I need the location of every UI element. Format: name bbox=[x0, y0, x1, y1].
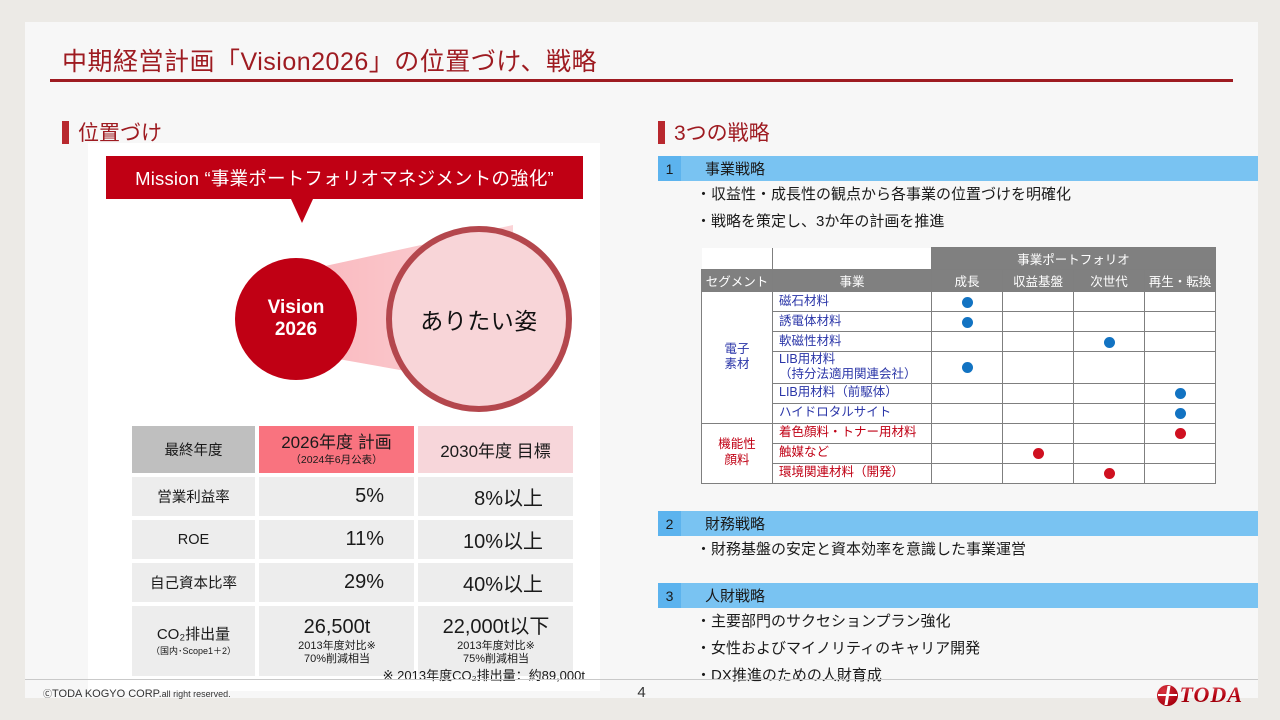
section-marker-icon bbox=[62, 121, 69, 144]
aspiration-circle: ありたい姿 bbox=[386, 226, 572, 412]
portfolio-col-growth: 成長 bbox=[932, 270, 1003, 292]
portfolio-mark-cell-empty bbox=[1074, 352, 1145, 384]
table-row: LIB用材料（持分法適用関連会社） bbox=[702, 352, 1216, 384]
vision-2026-circle: Vision 2026 bbox=[235, 258, 357, 380]
metric-label: 営業利益率 bbox=[132, 477, 255, 516]
portfolio-col-business: 事業 bbox=[773, 270, 932, 292]
metric-target-value: 10%以上 bbox=[418, 520, 573, 559]
metric-target-value: 40%以上 bbox=[418, 563, 573, 602]
portfolio-col-next: 次世代 bbox=[1074, 270, 1145, 292]
portfolio-business-cell: 磁石材料 bbox=[773, 292, 932, 312]
toda-logo-text: TODA bbox=[1180, 682, 1244, 708]
strategy-2-header: 2 財務戦略 bbox=[658, 511, 1258, 536]
portfolio-mark-cell-empty bbox=[1003, 423, 1074, 443]
table-row: 軟磁性材料 bbox=[702, 332, 1216, 352]
metrics-header-plan: 2026年度 計画 （2024年6月公表） bbox=[259, 426, 414, 473]
list-item: ・財務基盤の安定と資本効率を意識した事業運営 bbox=[658, 536, 1258, 563]
segment-line2: 素材 bbox=[724, 357, 749, 371]
portfolio-mark-cell-empty bbox=[932, 443, 1003, 463]
portfolio-group-header: 事業ポートフォリオ bbox=[932, 248, 1216, 270]
portfolio-mark-cell-filled bbox=[1074, 332, 1145, 352]
portfolio-mark-cell-empty bbox=[1145, 292, 1216, 312]
portfolio-mark-cell-filled bbox=[1003, 443, 1074, 463]
co2-footnote: ※ 2013年度CO₂排出量：約89,000t bbox=[88, 665, 585, 684]
portfolio-dot-icon bbox=[962, 297, 973, 308]
mission-banner: Mission “事業ポートフォリオマネジメントの強化” bbox=[106, 156, 583, 199]
portfolio-table: 事業ポートフォリオ セグメント 事業 成長 収益基盤 次世代 再生・転換 電子素… bbox=[701, 247, 1216, 484]
strategy-1-number: 1 bbox=[658, 156, 681, 181]
segment-line1: 電子 bbox=[724, 342, 749, 356]
portfolio-dot-icon bbox=[1104, 337, 1115, 348]
portfolio-mark-cell-empty bbox=[932, 423, 1003, 443]
list-item: ・戦略を策定し、3か年の計画を推進 bbox=[658, 208, 1258, 235]
page-title: 中期経営計画「Vision2026」の位置づけ、戦略 bbox=[62, 42, 597, 78]
strategy-3-bullets: ・主要部門のサクセションプラン強化 ・女性およびマイノリティのキャリア開発 ・D… bbox=[658, 608, 1258, 689]
segment-line1: 機能性 bbox=[718, 437, 756, 451]
metrics-header-plan-main: 2026年度 計画 bbox=[281, 433, 392, 452]
co2-target-amount: 22,000t以下 bbox=[419, 615, 573, 639]
portfolio-mark-cell-empty bbox=[932, 463, 1003, 483]
metric-label: ROE bbox=[132, 520, 255, 559]
metric-label: 自己資本比率 bbox=[132, 563, 255, 602]
title-underline bbox=[50, 79, 1233, 82]
strategy-1-title: 事業戦略 bbox=[681, 156, 1258, 181]
metrics-header-rowlabel: 最終年度 bbox=[132, 426, 255, 473]
list-item: ・女性およびマイノリティのキャリア開発 bbox=[658, 635, 1258, 662]
portfolio-mark-cell-empty bbox=[1003, 312, 1074, 332]
strategy-1-header: 1 事業戦略 bbox=[658, 156, 1258, 181]
section-heading-label: 3つの戦略 bbox=[674, 117, 770, 147]
portfolio-business-cell: 軟磁性材料 bbox=[773, 332, 932, 352]
aspiration-circle-label: ありたい姿 bbox=[420, 302, 538, 336]
portfolio-header-row: セグメント 事業 成長 収益基盤 次世代 再生・転換 bbox=[702, 270, 1216, 292]
toda-logo: TODA bbox=[1157, 682, 1244, 708]
portfolio-mark-cell-empty bbox=[1074, 312, 1145, 332]
positioning-card: Mission “事業ポートフォリオマネジメントの強化” Vision 2026… bbox=[88, 143, 600, 691]
portfolio-mark-cell-empty bbox=[1074, 292, 1145, 312]
co2-plan-note1: 2013年度対比※ bbox=[260, 640, 414, 653]
portfolio-mark-cell-empty bbox=[1145, 352, 1216, 384]
portfolio-mark-cell-empty bbox=[1074, 423, 1145, 443]
portfolio-mark-cell-empty bbox=[932, 383, 1003, 403]
toda-logo-mark-icon bbox=[1157, 685, 1178, 706]
metric-plan-value: 11% bbox=[259, 520, 414, 559]
metric-label-co2-sub: （国内･Scope1＋2） bbox=[133, 646, 254, 657]
portfolio-business-cell: 誘電体材料 bbox=[773, 312, 932, 332]
table-row: 触媒など bbox=[702, 443, 1216, 463]
strategy-3-title: 人財戦略 bbox=[681, 583, 1258, 608]
portfolio-mark-cell-empty bbox=[1003, 403, 1074, 423]
table-row: 電子素材磁石材料 bbox=[702, 292, 1216, 312]
portfolio-mark-cell-empty bbox=[932, 403, 1003, 423]
metric-target-value: 8%以上 bbox=[418, 477, 573, 516]
portfolio-business-cell: 触媒など bbox=[773, 443, 932, 463]
segment-line2: 顔料 bbox=[724, 453, 749, 467]
portfolio-mark-cell-filled bbox=[1145, 423, 1216, 443]
metrics-header-plan-sub: （2024年6月公表） bbox=[260, 454, 413, 466]
portfolio-mark-cell-filled bbox=[1145, 403, 1216, 423]
portfolio-business-cell: LIB用材料（前駆体） bbox=[773, 383, 932, 403]
portfolio-dot-icon bbox=[962, 362, 973, 373]
strategy-3-header: 3 人財戦略 bbox=[658, 583, 1258, 608]
portfolio-dot-icon bbox=[1175, 408, 1186, 419]
portfolio-mark-cell-empty bbox=[1003, 332, 1074, 352]
strategy-2-title: 財務戦略 bbox=[681, 511, 1258, 536]
metric-label-co2-main: CO₂排出量 bbox=[157, 626, 230, 643]
table-row: 営業利益率 5% 8%以上 bbox=[132, 477, 573, 516]
footer-divider bbox=[25, 679, 1258, 680]
metrics-table: 最終年度 2026年度 計画 （2024年6月公表） 2030年度 目標 営業利… bbox=[128, 422, 577, 680]
metric-plan-value: 5% bbox=[259, 477, 414, 516]
portfolio-mark-cell-empty bbox=[1003, 292, 1074, 312]
list-item: ・主要部門のサクセションプラン強化 bbox=[658, 608, 1258, 635]
co2-plan-amount: 26,500t bbox=[260, 615, 414, 639]
portfolio-mark-cell-empty bbox=[1145, 312, 1216, 332]
portfolio-mark-cell-empty bbox=[1003, 383, 1074, 403]
portfolio-segment-cell: 電子素材 bbox=[702, 292, 773, 424]
portfolio-mark-cell-empty bbox=[1003, 352, 1074, 384]
strategy-1-bullets: ・収益性・成長性の観点から各事業の位置づけを明確化 ・戦略を策定し、3か年の計画… bbox=[658, 181, 1258, 235]
portfolio-mark-cell-empty bbox=[1145, 332, 1216, 352]
co2-target-note1: 2013年度対比※ bbox=[419, 640, 573, 653]
portfolio-business-cell: LIB用材料（持分法適用関連会社） bbox=[773, 352, 932, 384]
portfolio-business-cell: 着色顔料・トナー用材料 bbox=[773, 423, 932, 443]
list-item: ・収益性・成長性の観点から各事業の位置づけを明確化 bbox=[658, 181, 1258, 208]
table-row: ROE 11% 10%以上 bbox=[132, 520, 573, 559]
table-row: 環境関連材料（開発） bbox=[702, 463, 1216, 483]
portfolio-mark-cell-filled bbox=[1074, 463, 1145, 483]
portfolio-dot-icon bbox=[1175, 428, 1186, 439]
section-marker-icon bbox=[658, 121, 665, 144]
strategy-block-2: 2 財務戦略 ・財務基盤の安定と資本効率を意識した事業運営 bbox=[658, 511, 1258, 563]
portfolio-blank-cell bbox=[702, 248, 773, 270]
strategy-3-number: 3 bbox=[658, 583, 681, 608]
table-row: LIB用材料（前駆体） bbox=[702, 383, 1216, 403]
strategy-block-1: 1 事業戦略 ・収益性・成長性の観点から各事業の位置づけを明確化 ・戦略を策定し… bbox=[658, 156, 1258, 235]
portfolio-business-cell: 環境関連材料（開発） bbox=[773, 463, 932, 483]
portfolio-col-renew: 再生・転換 bbox=[1145, 270, 1216, 292]
portfolio-mark-cell-empty bbox=[1003, 463, 1074, 483]
portfolio-mark-cell-filled bbox=[932, 312, 1003, 332]
portfolio-group-header-row: 事業ポートフォリオ bbox=[702, 248, 1216, 270]
portfolio-mark-cell-empty bbox=[932, 332, 1003, 352]
section-heading-strategies: 3つの戦略 bbox=[658, 117, 770, 147]
strategy-2-number: 2 bbox=[658, 511, 681, 536]
portfolio-dot-icon bbox=[962, 317, 973, 328]
portfolio-col-profit: 収益基盤 bbox=[1003, 270, 1074, 292]
table-row: ハイドロタルサイト bbox=[702, 403, 1216, 423]
portfolio-col-segment: セグメント bbox=[702, 270, 773, 292]
table-row: 誘電体材料 bbox=[702, 312, 1216, 332]
metrics-header-target: 2030年度 目標 bbox=[418, 426, 573, 473]
portfolio-dot-icon bbox=[1033, 448, 1044, 459]
portfolio-mark-cell-filled bbox=[1145, 383, 1216, 403]
portfolio-mark-cell-empty bbox=[1145, 443, 1216, 463]
portfolio-mark-cell-filled bbox=[932, 352, 1003, 384]
metric-plan-value: 29% bbox=[259, 563, 414, 602]
table-row: 機能性顔料着色顔料・トナー用材料 bbox=[702, 423, 1216, 443]
page-number: 4 bbox=[25, 684, 1258, 701]
portfolio-mark-cell-empty bbox=[1145, 463, 1216, 483]
portfolio-business-cell: ハイドロタルサイト bbox=[773, 403, 932, 423]
portfolio-dot-icon bbox=[1104, 468, 1115, 479]
vision-circle-line1: Vision bbox=[268, 297, 325, 319]
strategy-2-bullets: ・財務基盤の安定と資本効率を意識した事業運営 bbox=[658, 536, 1258, 563]
mission-text: Mission “事業ポートフォリオマネジメントの強化” bbox=[135, 165, 554, 191]
portfolio-dot-icon bbox=[1175, 388, 1186, 399]
strategy-block-3: 3 人財戦略 ・主要部門のサクセションプラン強化 ・女性およびマイノリティのキャ… bbox=[658, 583, 1258, 689]
portfolio-blank-cell bbox=[773, 248, 932, 270]
portfolio-mark-cell-empty bbox=[1074, 403, 1145, 423]
vision-circle-line2: 2026 bbox=[275, 319, 317, 341]
portfolio-mark-cell-empty bbox=[1074, 443, 1145, 463]
portfolio-mark-cell-filled bbox=[932, 292, 1003, 312]
metrics-header-row: 最終年度 2026年度 計画 （2024年6月公表） 2030年度 目標 bbox=[132, 426, 573, 473]
slide: 中期経営計画「Vision2026」の位置づけ、戦略 位置づけ 3つの戦略 Mi… bbox=[25, 22, 1258, 698]
portfolio-mark-cell-empty bbox=[1074, 383, 1145, 403]
portfolio-segment-cell: 機能性顔料 bbox=[702, 423, 773, 483]
table-row: 自己資本比率 29% 40%以上 bbox=[132, 563, 573, 602]
mission-pointer-icon bbox=[291, 199, 313, 223]
